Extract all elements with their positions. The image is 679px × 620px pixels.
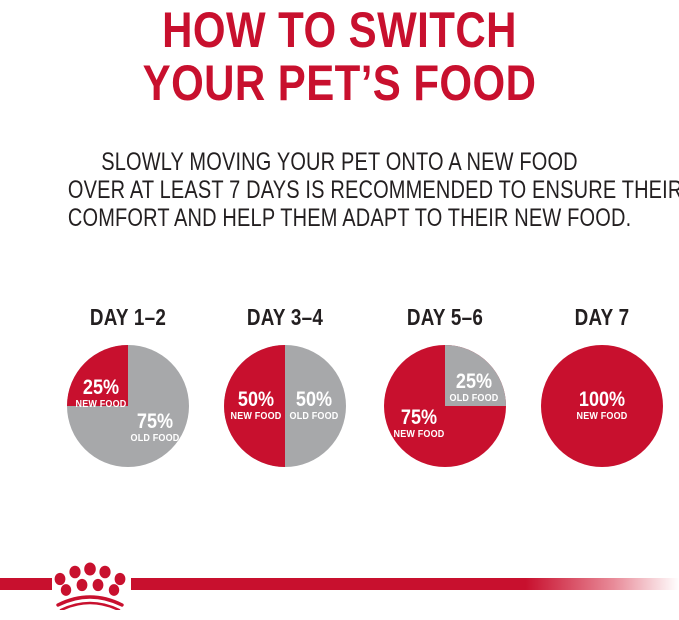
pie-svg-1 — [67, 345, 189, 467]
pie-svg-2 — [224, 345, 346, 467]
footer — [0, 554, 679, 620]
pie-chart-day-5-6: DAY 5–6 25% OLD FOOD 75% NEW FOOD — [365, 305, 525, 467]
pie-graphic-1: 25% NEW FOOD 75% OLD FOOD — [67, 345, 189, 467]
page-subtitle-line-2: OVER AT LEAST 7 DAYS IS RECOMMENDED TO E… — [68, 176, 611, 204]
day-label-1: DAY 1–2 — [62, 305, 193, 329]
pie-graphic-2: 50% NEW FOOD 50% OLD FOOD — [224, 345, 346, 467]
pie-graphic-3: 25% OLD FOOD 75% NEW FOOD — [384, 345, 506, 467]
day-label-2: DAY 3–4 — [219, 305, 350, 329]
pie-chart-day-7: DAY 7 100% NEW FOOD — [522, 305, 679, 467]
pie-svg-3 — [384, 345, 506, 467]
footer-bar-right — [131, 578, 679, 590]
footer-bar-left — [0, 578, 52, 590]
page-subtitle: SLOWLY MOVING YOUR PET ONTO A NEW FOOD O… — [0, 148, 679, 232]
page-subtitle-line-3: COMFORT AND HELP THEM ADAPT TO THEIR NEW… — [68, 204, 611, 232]
page-subtitle-line-1: SLOWLY MOVING YOUR PET ONTO A NEW FOOD — [68, 148, 611, 176]
day-label-3: DAY 5–6 — [379, 305, 510, 329]
crown-icon — [48, 558, 132, 610]
pie-chart-row: DAY 1–2 25% NEW FOOD 75% OLD FOOD DAY 3–… — [0, 305, 679, 485]
pie-chart-day-3-4: DAY 3–4 50% NEW FOOD 50% OLD FOOD — [205, 305, 365, 467]
page-title: HOW TO SWITCH YOUR PET’S FOOD — [0, 4, 679, 110]
pie-svg-4 — [541, 345, 663, 467]
royal-canin-crown-logo-icon — [48, 558, 132, 610]
pie-chart-day-1-2: DAY 1–2 25% NEW FOOD 75% OLD FOOD — [48, 305, 208, 467]
day-label-4: DAY 7 — [536, 305, 667, 329]
page-title-line-2: YOUR PET’S FOOD — [54, 57, 624, 110]
page-title-line-1: HOW TO SWITCH — [54, 4, 624, 57]
pie-graphic-4: 100% NEW FOOD — [541, 345, 663, 467]
